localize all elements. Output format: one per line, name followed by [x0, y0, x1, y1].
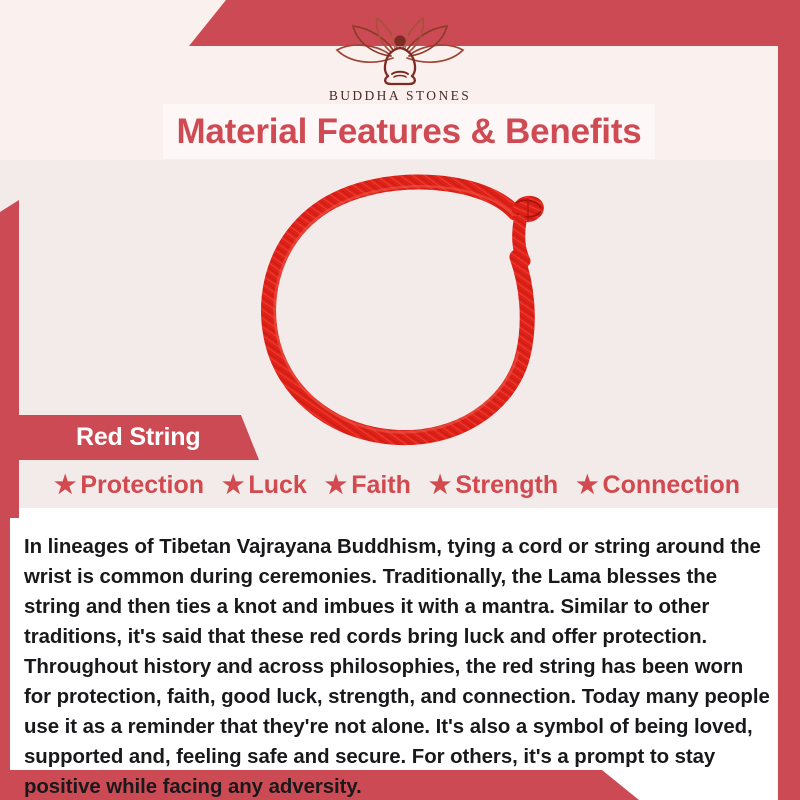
- benefit-item-faith: ★ Faith: [325, 471, 411, 500]
- benefits-list: ★ Protection ★ Luck ★ Faith ★ Strength ★…: [16, 466, 778, 504]
- page-title-box: Material Features & Benefits: [163, 104, 655, 159]
- benefit-label: Faith: [351, 471, 411, 500]
- material-name: Red String: [76, 423, 200, 452]
- benefit-item-strength: ★ Strength: [429, 471, 558, 500]
- right-red-border: [778, 0, 800, 800]
- star-icon: ★: [576, 473, 598, 498]
- infographic-page: BUDDHA STONES Material Features & Benefi…: [0, 0, 800, 800]
- benefit-label: Connection: [603, 471, 741, 500]
- page-title: Material Features & Benefits: [176, 112, 641, 152]
- benefit-label: Luck: [248, 471, 306, 500]
- star-icon: ★: [325, 473, 347, 498]
- benefit-label: Strength: [455, 471, 558, 500]
- red-braided-string-bracelet-image: [245, 165, 585, 450]
- brand-logo: BUDDHA STONES: [0, 14, 800, 104]
- benefit-item-protection: ★ Protection: [54, 471, 204, 500]
- benefit-item-connection: ★ Connection: [576, 471, 740, 500]
- star-icon: ★: [222, 473, 244, 498]
- material-description: In lineages of Tibetan Vajrayana Buddhis…: [24, 532, 774, 800]
- star-icon: ★: [429, 473, 451, 498]
- star-icon: ★: [54, 473, 76, 498]
- benefit-item-luck: ★ Luck: [222, 471, 307, 500]
- material-name-banner: Red String: [19, 415, 259, 460]
- brand-wordmark: BUDDHA STONES: [329, 88, 471, 104]
- body-left-red-rule: [0, 508, 10, 770]
- benefit-label: Protection: [80, 471, 204, 500]
- lotus-meditation-icon: [331, 14, 469, 86]
